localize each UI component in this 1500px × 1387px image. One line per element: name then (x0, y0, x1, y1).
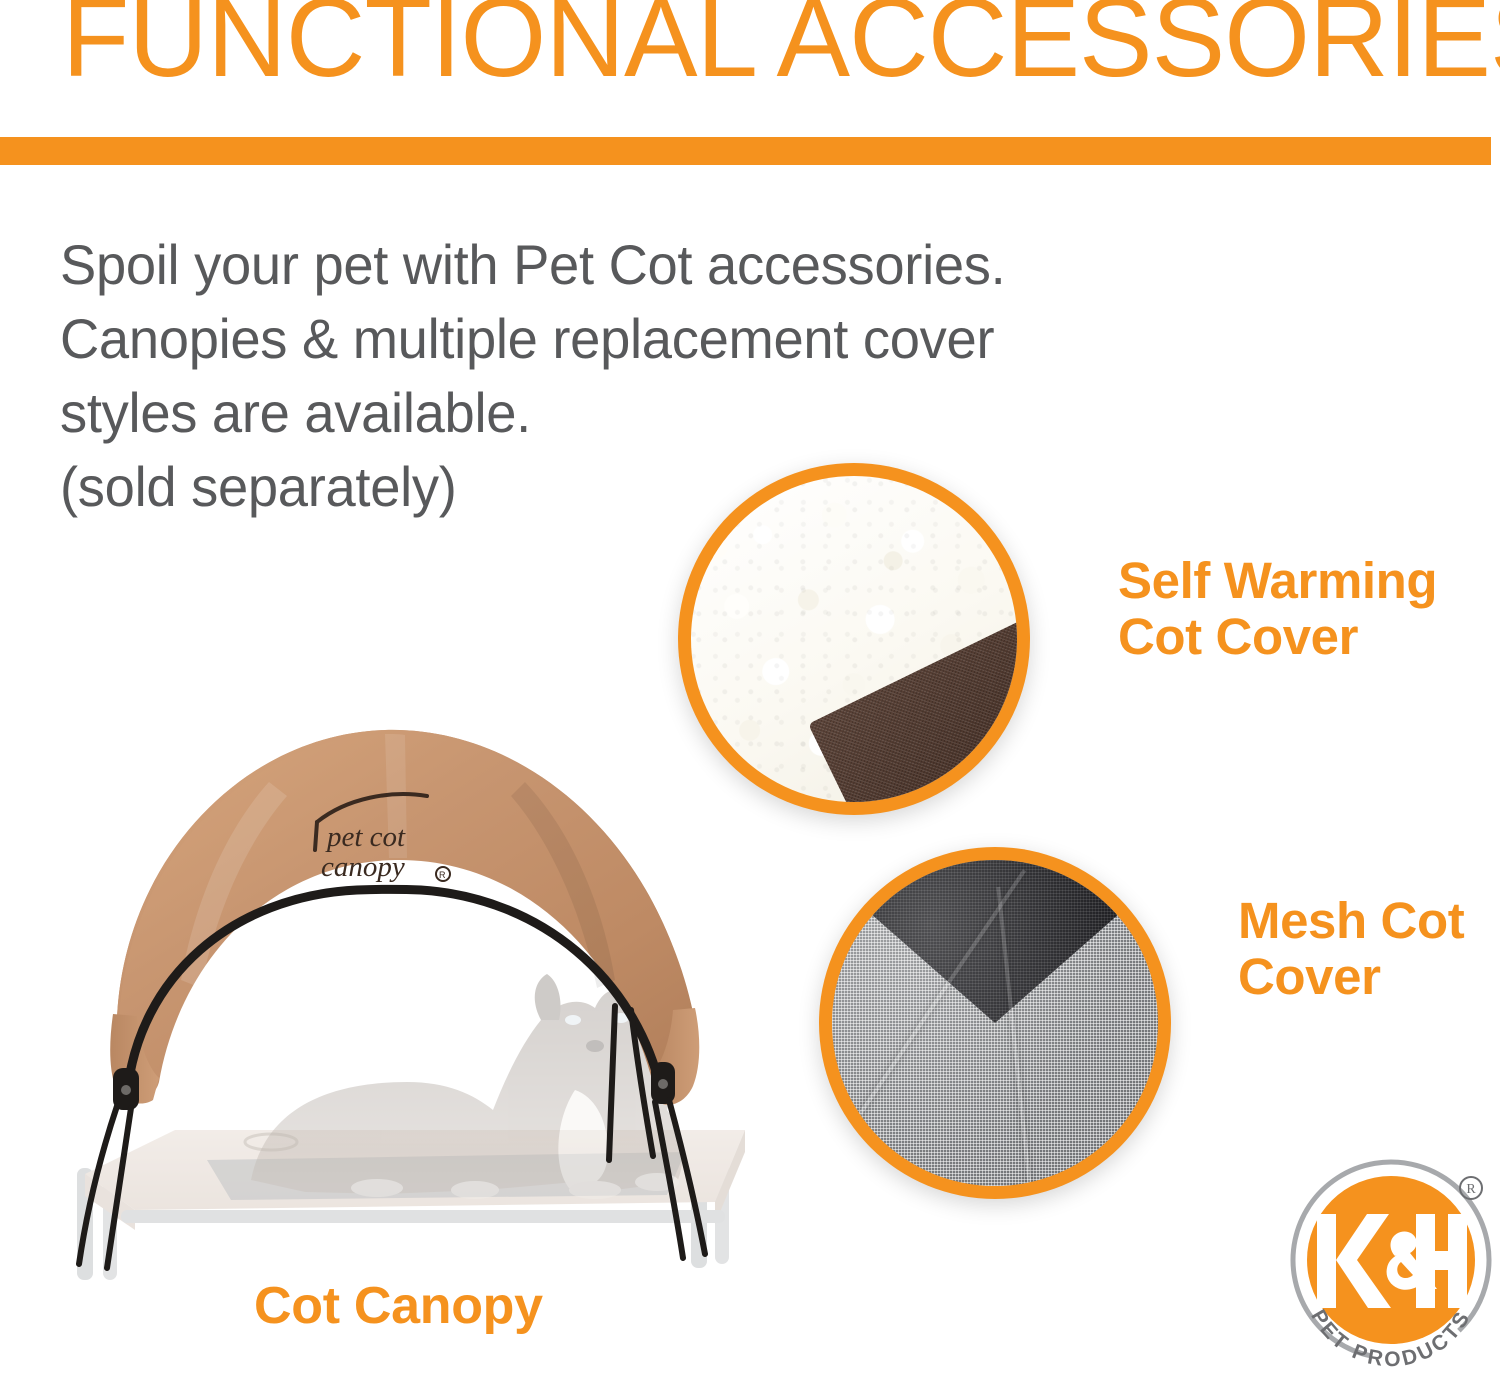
intro-paragraph: Spoil your pet with Pet Cot accessories.… (60, 228, 1311, 524)
svg-text:R: R (1466, 1182, 1476, 1197)
self-warming-label-line-2: Cot Cover (1118, 609, 1500, 665)
intro-line-1: Spoil your pet with Pet Cot accessories. (60, 228, 1311, 302)
mesh-cot-cover-photo (819, 847, 1171, 1199)
intro-line-2: Canopies & multiple replacement cover (60, 302, 1311, 376)
faded-dog-illustration (251, 970, 682, 1199)
mesh-label-line-2: Cover (1238, 949, 1500, 1005)
cot-canopy-product-image: pet cot canopy R (55, 690, 795, 1290)
intro-line-4: (sold separately) (60, 450, 1311, 524)
mesh-cot-cover-label: Mesh Cot Cover (1238, 893, 1500, 1005)
canopy-brand-text-line-1: pet cot (325, 821, 406, 853)
canopy-registered-mark: R (439, 870, 446, 880)
gray-mesh-texture (832, 860, 1158, 1186)
mesh-photo-inner (832, 860, 1158, 1186)
self-warming-cot-cover-label: Self Warming Cot Cover (1118, 553, 1500, 665)
mesh-label-line-1: Mesh Cot (1238, 893, 1500, 949)
intro-line-3: styles are available. (60, 376, 1311, 450)
self-warming-cot-cover-photo (678, 463, 1030, 815)
kh-pet-products-logo: R PET PRODUCTS (1285, 1152, 1497, 1384)
page-title: FUNCTIONAL ACCESSORIES (62, 0, 1471, 98)
header-divider-bar (0, 137, 1491, 165)
self-warming-photo-inner (691, 476, 1017, 802)
self-warming-label-line-1: Self Warming (1118, 553, 1500, 609)
canopy-brand-text-line-2: canopy (321, 851, 405, 883)
mesh-highlight (832, 860, 1158, 1186)
logo-registered-mark: R (1460, 1177, 1482, 1199)
